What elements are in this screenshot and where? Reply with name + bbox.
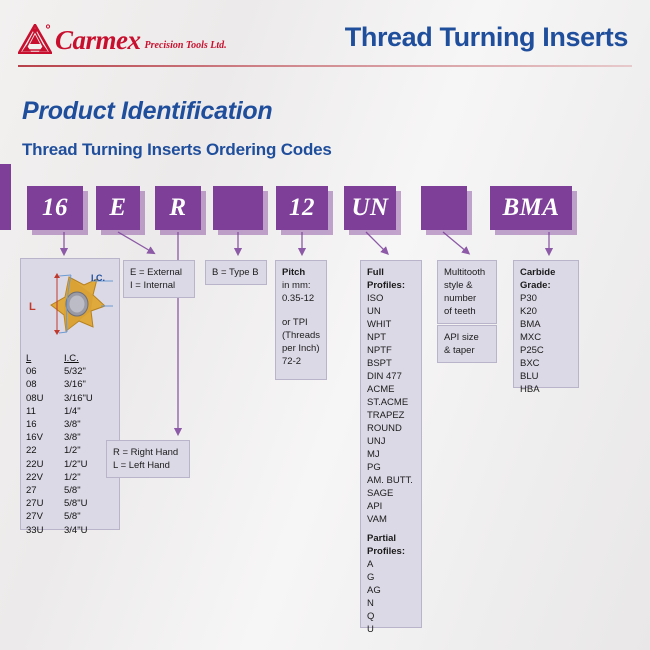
full-profiles-heading-2: Profiles: (367, 280, 405, 291)
code-box-label: UN (351, 194, 388, 222)
code-box-label: BMA (502, 194, 559, 222)
code-box-size[interactable]: 16 (27, 186, 83, 230)
profiles-box: Full Profiles: ISOUNWHITNPTNPTFBSPTDIN 4… (360, 260, 422, 628)
size-cell-l: 22U (26, 458, 64, 471)
size-cell-l: 27 (26, 484, 64, 497)
full-profile-item: BSPT (367, 357, 415, 370)
size-table-row: 33U3/4"U (26, 524, 118, 537)
size-table-row: 065/32" (26, 365, 118, 378)
partial-profile-item: A (367, 558, 415, 571)
full-profile-item: UN (367, 305, 415, 318)
hand-box: R = Right Hand L = Left Hand (106, 440, 190, 478)
full-profile-item: NPT (367, 331, 415, 344)
size-cell-l: 08 (26, 378, 64, 391)
pitch-heading: Pitch (282, 267, 305, 278)
carbide-heading-2: Grade: (520, 280, 551, 291)
full-profile-item: UNJ (367, 435, 415, 448)
carbide-grade-item: P30 (520, 292, 572, 305)
size-table-row: 08U3/16"U (26, 392, 118, 405)
size-table-row: 083/16" (26, 378, 118, 391)
page-header: Carmex Precision Tools Ltd. Thread Turni… (0, 0, 650, 70)
size-cell-l: 27V (26, 510, 64, 523)
partial-profiles-heading-1: Partial (367, 533, 396, 544)
api-box: API size & taper (437, 325, 497, 363)
code-box-carbide-grade[interactable]: BMA (490, 186, 572, 230)
multitooth-line-1: Multitooth (444, 266, 490, 279)
api-line-2: & taper (444, 344, 490, 357)
size-table-row: 275/8" (26, 484, 118, 497)
code-box-label: E (109, 194, 126, 222)
carbide-grade-item: P25C (520, 344, 572, 357)
pitch-line-1: in mm: (282, 279, 320, 292)
full-profile-item: AM. BUTT. (367, 474, 415, 487)
carbide-grade-item: BLU (520, 370, 572, 383)
partial-profile-item: Q (367, 610, 415, 623)
brand-tagline: Precision Tools Ltd. (145, 40, 227, 51)
partial-profile-item: N (367, 597, 415, 610)
type-line-1: B = Type B (212, 266, 260, 279)
code-box-label: 12 (289, 194, 315, 222)
code-box-hand[interactable]: R (155, 186, 201, 230)
hand-line-1: R = Right Hand (113, 446, 183, 459)
size-cell-ic: 3/4"U (64, 524, 118, 537)
code-box-label: 16 (42, 194, 68, 222)
left-accent-bar (0, 164, 11, 230)
multitooth-line-2: style & (444, 279, 490, 292)
size-cell-ic: 1/4" (64, 405, 118, 418)
partial-profile-item: G (367, 571, 415, 584)
code-box-profile[interactable]: UN (344, 186, 396, 230)
document-page: Carmex Precision Tools Ltd. Thread Turni… (0, 0, 650, 650)
partial-profiles-heading-2: Profiles: (367, 546, 405, 557)
size-table-row: 22U1/2"U (26, 458, 118, 471)
carbide-grade-item: HBA (520, 383, 572, 396)
partial-profile-item: U (367, 623, 415, 636)
external-internal-box: E = External I = Internal (123, 260, 195, 298)
header-divider (18, 65, 632, 67)
full-profile-item: API (367, 500, 415, 513)
size-table-row: 111/4" (26, 405, 118, 418)
size-table-col-l: L (26, 353, 31, 364)
section-title: Product Identification (22, 97, 272, 126)
carbide-grade-item: BXC (520, 357, 572, 370)
full-profile-item: MJ (367, 448, 415, 461)
ei-line-1: E = External (130, 266, 188, 279)
carbide-grade-item: BMA (520, 318, 572, 331)
brand-logo: Carmex Precision Tools Ltd. (18, 24, 227, 54)
size-table-row: 221/2" (26, 444, 118, 457)
full-profile-item: ACME (367, 383, 415, 396)
size-cell-l: 33U (26, 524, 64, 537)
size-cell-l: 11 (26, 405, 64, 418)
partial-profile-item: AG (367, 584, 415, 597)
size-cell-ic: 5/8" (64, 484, 118, 497)
pitch-line-2: 0.35-12 (282, 292, 320, 305)
size-cell-ic: 5/32" (64, 365, 118, 378)
type-box: B = Type B (205, 260, 267, 285)
full-profile-item: TRAPEZ (367, 409, 415, 422)
full-profile-item: SAGE (367, 487, 415, 500)
carbide-grade-item: K20 (520, 305, 572, 318)
multitooth-line-3: number (444, 292, 490, 305)
full-profile-item: WHIT (367, 318, 415, 331)
size-table-row: 22V1/2" (26, 471, 118, 484)
size-cell-l: 16 (26, 418, 64, 431)
size-table-row: 163/8" (26, 418, 118, 431)
size-cell-ic: 3/16"U (64, 392, 118, 405)
api-line-1: API size (444, 331, 490, 344)
multitooth-line-4: of teeth (444, 305, 490, 318)
size-table-header: L I.C. (26, 352, 118, 365)
multitooth-box: Multitooth style & number of teeth (437, 260, 497, 324)
size-cell-l: 27U (26, 497, 64, 510)
code-box-pitch[interactable]: 12 (276, 186, 328, 230)
full-profile-item: ISO (367, 292, 415, 305)
size-cell-l: 16V (26, 431, 64, 444)
code-box-label: R (169, 194, 186, 222)
carbide-grade-item: MXC (520, 331, 572, 344)
size-cell-l: 22 (26, 444, 64, 457)
size-cell-ic: 3/16" (64, 378, 118, 391)
carmex-triangle-logo-icon (18, 24, 52, 54)
size-table-col-ic: I.C. (64, 353, 79, 364)
full-profile-item: DIN 477 (367, 370, 415, 383)
size-table-row: 27V5/8" (26, 510, 118, 523)
carbide-grade-box: Carbide Grade: P30K20BMAMXCP25CBXCBLUHBA (513, 260, 579, 388)
carbide-heading-1: Carbide (520, 267, 555, 278)
full-profile-item: ST.ACME (367, 396, 415, 409)
size-cell-l: 22V (26, 471, 64, 484)
dimension-label-l: L (29, 301, 36, 313)
page-title: Thread Turning Inserts (345, 22, 628, 53)
size-cell-l: 08U (26, 392, 64, 405)
size-table-row: 27U5/8"U (26, 497, 118, 510)
size-table: L I.C. 065/32"083/16"08U3/16"U111/4"163/… (26, 352, 118, 537)
pitch-line-4: (Threads (282, 329, 320, 342)
brand-name: Carmex (55, 28, 141, 54)
pitch-box: Pitch in mm: 0.35-12 or TPI (Threads per… (275, 260, 327, 380)
pitch-line-5: per Inch) (282, 342, 320, 355)
size-cell-l: 06 (26, 365, 64, 378)
size-cell-ic: 5/8" (64, 510, 118, 523)
full-profile-item: NPTF (367, 344, 415, 357)
full-profile-item: VAM (367, 513, 415, 526)
full-profile-item: ROUND (367, 422, 415, 435)
triangular-insert-icon (21, 259, 121, 351)
code-box-type[interactable] (213, 186, 263, 230)
code-box-external-internal[interactable]: E (96, 186, 140, 230)
size-table-row: 16V3/8" (26, 431, 118, 444)
pitch-line-6: 72-2 (282, 355, 320, 368)
hand-line-2: L = Left Hand (113, 459, 183, 472)
code-box-multitooth[interactable] (421, 186, 467, 230)
full-profile-item: PG (367, 461, 415, 474)
ei-line-2: I = Internal (130, 279, 188, 292)
size-cell-ic: 5/8"U (64, 497, 118, 510)
full-profiles-heading-1: Full (367, 267, 384, 278)
size-cell-ic: 3/8" (64, 418, 118, 431)
dimension-label-ic: I.C. (91, 273, 105, 283)
section-subtitle: Thread Turning Inserts Ordering Codes (22, 140, 332, 160)
pitch-line-3: or TPI (282, 316, 320, 329)
